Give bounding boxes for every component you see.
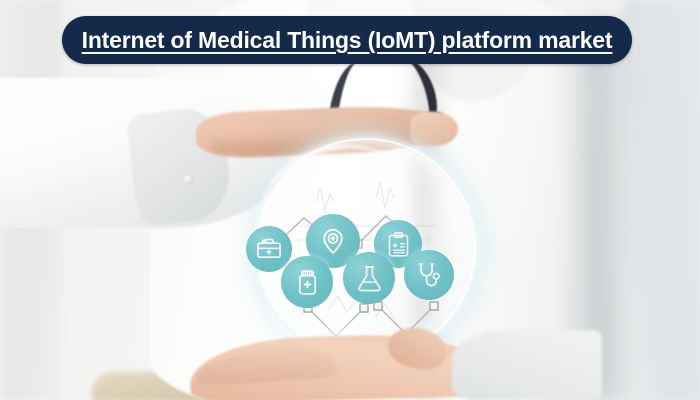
medical-briefcase-icon (246, 226, 292, 272)
pill-bottle-icon (281, 256, 333, 308)
banner-image: Internet of Medical Things (IoMT) platfo… (0, 0, 700, 400)
background-wall-right (622, 0, 700, 400)
stethoscope-icon (404, 250, 454, 300)
lab-coat-sleeve-lower (452, 330, 602, 400)
title-banner: Internet of Medical Things (IoMT) platfo… (62, 16, 632, 64)
cuff-button (183, 175, 194, 185)
flask-icon (343, 252, 395, 304)
page-title: Internet of Medical Things (IoMT) platfo… (82, 27, 613, 54)
